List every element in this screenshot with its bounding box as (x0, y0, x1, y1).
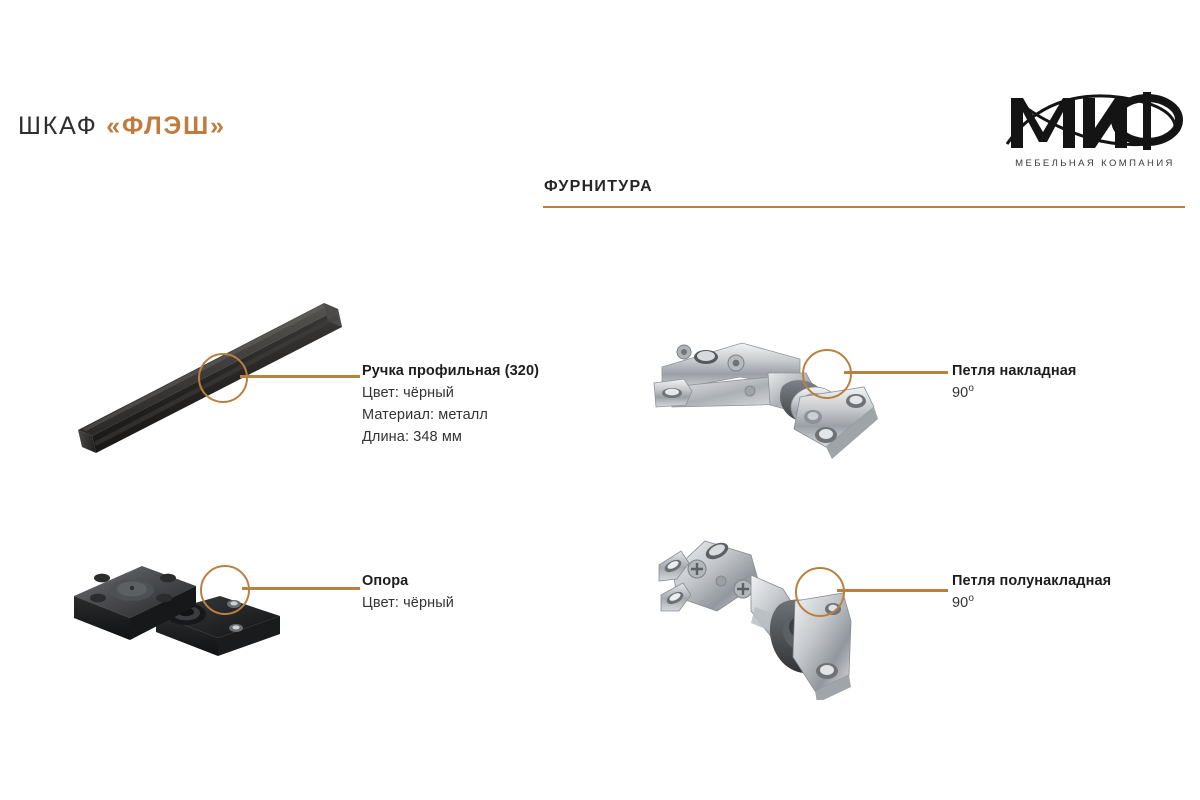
label-line-angle: 90o (952, 382, 1076, 404)
label-half-overlay-hinge: Петля полунакладная 90o (952, 570, 1111, 614)
label-title: Петля полунакладная (952, 570, 1111, 592)
label-line-color: Цвет: чёрный (362, 382, 539, 404)
page-title: ШКАФ «ФЛЭШ» (18, 112, 226, 141)
label-title: Опора (362, 570, 454, 592)
callout-ring-icon (795, 567, 845, 617)
slide-canvas: ШКАФ «ФЛЭШ» МЕБЕЛЬНАЯ КОМПАНИЯ ФУРНИТУРА (0, 0, 1200, 800)
label-line-angle: 90o (952, 592, 1111, 614)
callout-leader-line (837, 589, 948, 592)
label-title: Ручка профильная (320) (362, 360, 539, 382)
label-handle: Ручка профильная (320) Цвет: чёрный Мате… (362, 360, 539, 448)
company-logo: МЕБЕЛЬНАЯ КОМПАНИЯ (1003, 86, 1185, 182)
angle-value: 90 (952, 385, 968, 401)
label-title: Петля накладная (952, 360, 1076, 382)
logo-subtitle: МЕБЕЛЬНАЯ КОМПАНИЯ (1005, 158, 1185, 169)
callout-ring-icon (198, 353, 248, 403)
degree-icon: o (968, 593, 974, 604)
callout-leader-line (242, 587, 360, 590)
section-divider (543, 206, 1185, 208)
angle-value: 90 (952, 595, 968, 611)
degree-icon: o (968, 383, 974, 394)
callout-leader-line (240, 375, 360, 378)
label-support: Опора Цвет: чёрный (362, 570, 454, 614)
half-overlay-hinge-photo (655, 525, 885, 700)
page-title-accent: «ФЛЭШ» (106, 112, 225, 140)
callout-leader-line (844, 371, 948, 374)
mif-logo-icon (1003, 86, 1185, 156)
label-line-length: Длина: 348 мм (362, 426, 539, 448)
label-line-color: Цвет: чёрный (362, 592, 454, 614)
support-foot-photo (68, 552, 298, 662)
label-overlay-hinge: Петля накладная 90o (952, 360, 1076, 404)
section-heading: ФУРНИТУРА (544, 178, 653, 196)
page-title-plain: ШКАФ (18, 112, 106, 140)
overlay-hinge-photo (650, 325, 900, 475)
callout-ring-icon (200, 565, 250, 615)
label-line-material: Материал: металл (362, 404, 539, 426)
callout-ring-icon (802, 349, 852, 399)
